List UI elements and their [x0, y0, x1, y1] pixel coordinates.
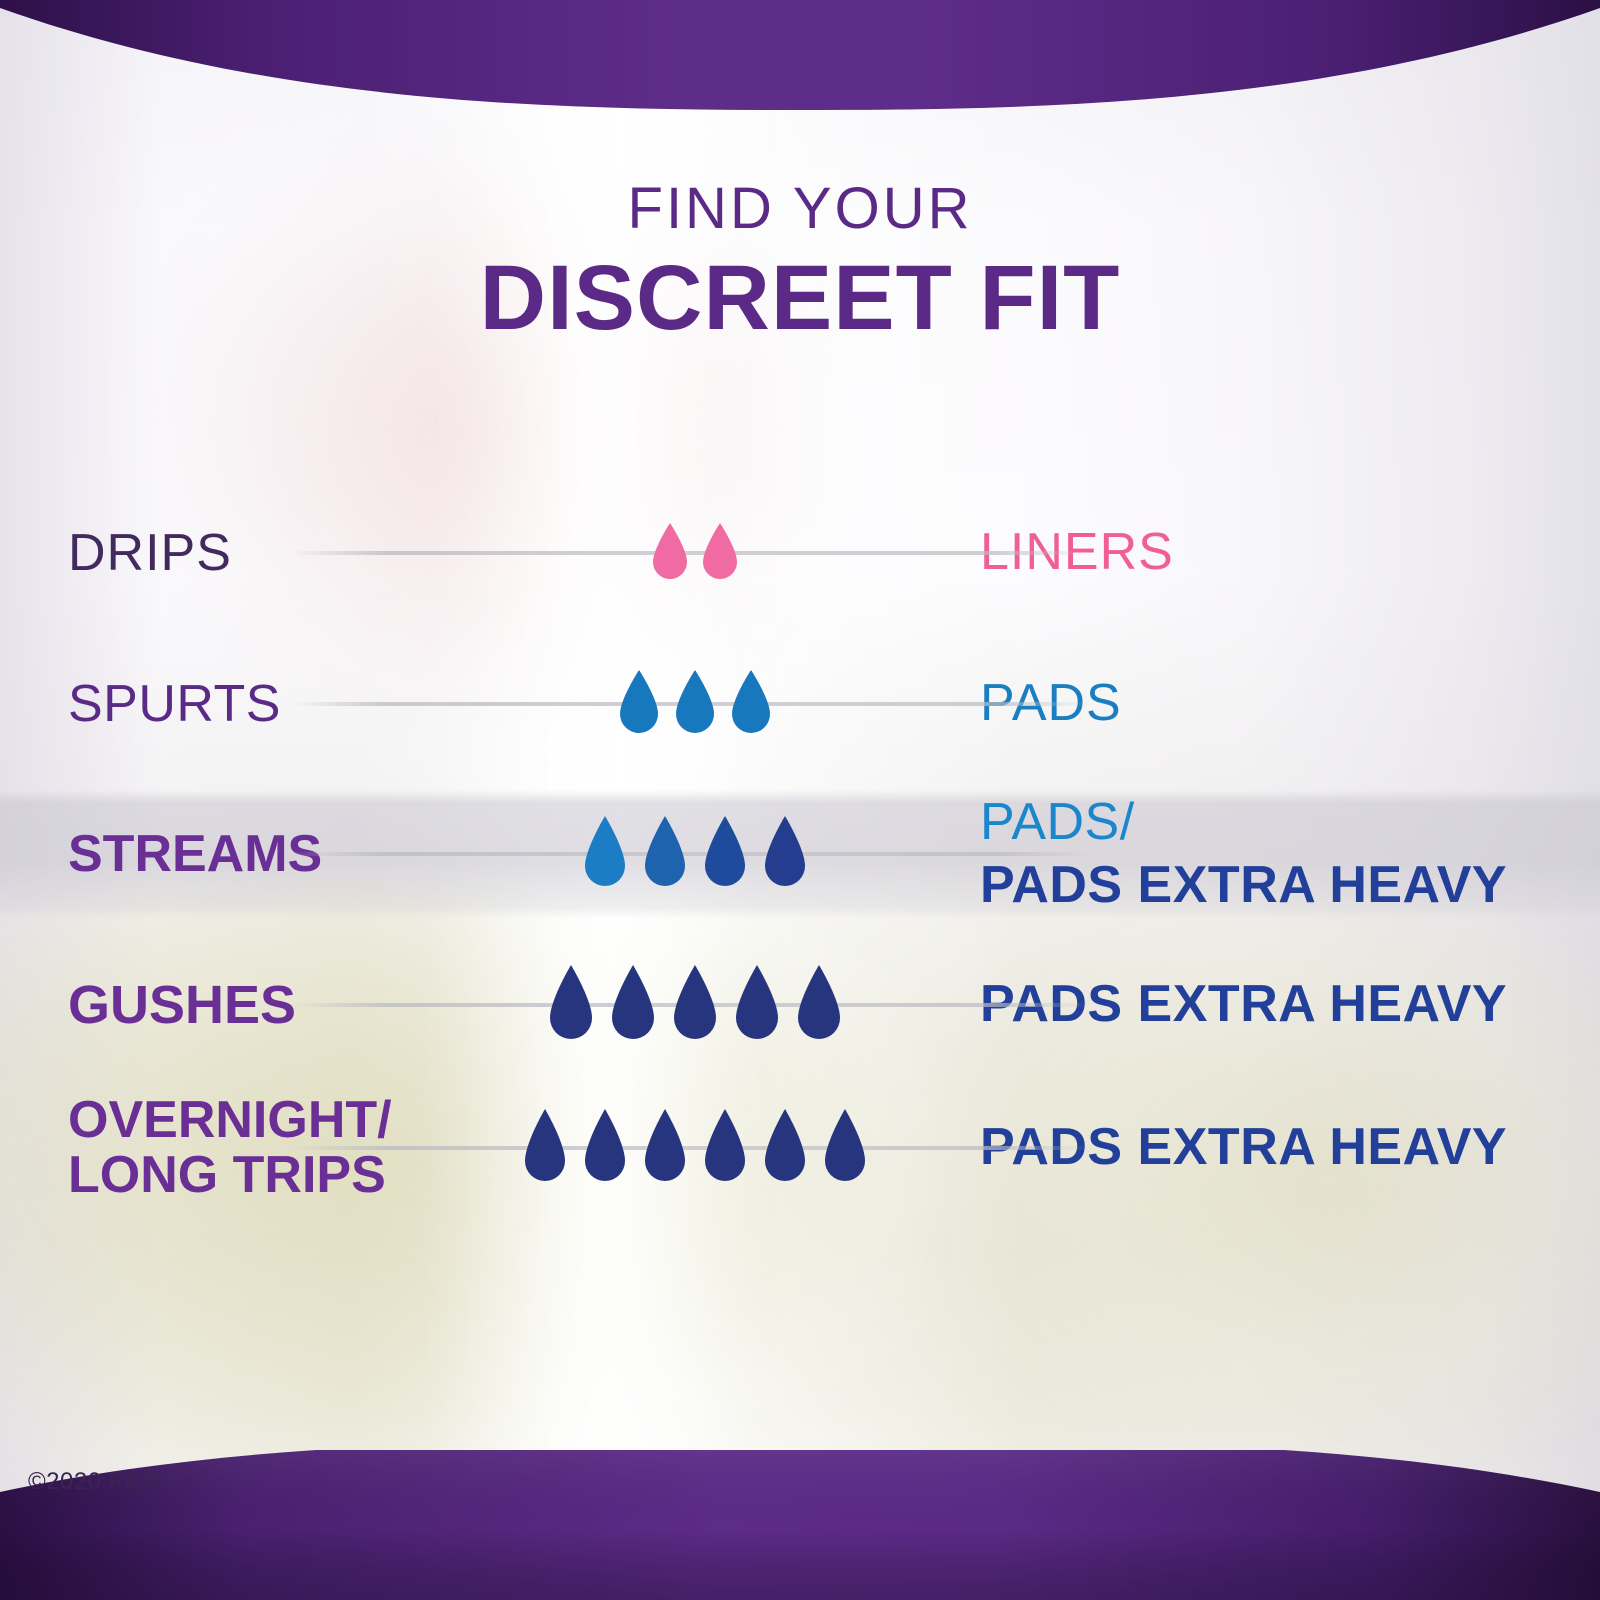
water-drop-icon — [698, 815, 752, 893]
row-gushes-droplets-wrap — [430, 964, 960, 1046]
water-drop-icon — [543, 964, 599, 1046]
row-streams-product-label-1: PADS/ — [980, 791, 1600, 854]
flow-product-rows: DRIPS LINERS SPURTS — [0, 0, 1600, 1600]
row-overnight-flow-label-line-2: LONG TRIPS — [68, 1148, 430, 1203]
water-drop-icon — [614, 669, 664, 739]
row-drips-droplets-wrap — [430, 522, 960, 584]
row-overnight-droplets — [518, 1108, 872, 1188]
row-drips-droplets — [648, 522, 742, 584]
water-drop-icon — [518, 1108, 572, 1188]
row-streams-droplets — [578, 815, 812, 893]
row-gushes: GUSHES PADS EXTRA HEAVY — [0, 945, 1600, 1065]
water-drop-icon — [578, 1108, 632, 1188]
water-drop-icon — [667, 964, 723, 1046]
water-drop-icon — [648, 522, 692, 584]
water-drop-icon — [638, 1108, 692, 1188]
row-spurts-droplets-wrap — [430, 669, 960, 739]
row-gushes-droplets — [543, 964, 847, 1046]
row-streams-product-label-2: PADS EXTRA HEAVY — [980, 854, 1600, 917]
row-spurts: SPURTS PADS — [0, 645, 1600, 763]
row-overnight-flow-label-line-1: OVERNIGHT/ — [68, 1093, 430, 1148]
water-drop-icon — [698, 1108, 752, 1188]
row-spurts-droplets — [614, 669, 776, 739]
row-overnight: OVERNIGHT/ LONG TRIPS PADS EXTRA HEAVY — [0, 1085, 1600, 1210]
water-drop-icon — [670, 669, 720, 739]
row-overnight-droplets-wrap — [430, 1108, 960, 1188]
water-drop-icon — [758, 1108, 812, 1188]
water-drop-icon — [638, 815, 692, 893]
row-drips: DRIPS LINERS — [0, 498, 1600, 608]
copyright-notice: ©2020 P&G — [28, 1468, 161, 1496]
water-drop-icon — [818, 1108, 872, 1188]
water-drop-icon — [729, 964, 785, 1046]
water-drop-icon — [791, 964, 847, 1046]
water-drop-icon — [698, 522, 742, 584]
water-drop-icon — [605, 964, 661, 1046]
row-streams: STREAMS PADS/ PADS EXTRA HEAVY — [0, 790, 1600, 918]
water-drop-icon — [578, 815, 632, 893]
water-drop-icon — [726, 669, 776, 739]
water-drop-icon — [758, 815, 812, 893]
row-streams-droplets-wrap — [430, 815, 960, 893]
discreet-fit-infographic: FIND YOUR DISCREET FIT DRIPS LINERS S — [0, 0, 1600, 1600]
